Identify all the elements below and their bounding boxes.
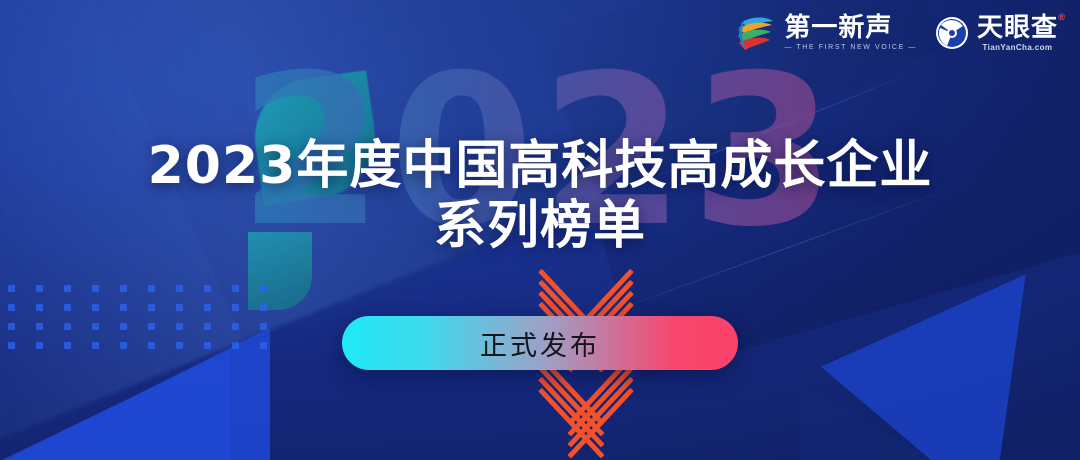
grid-dot [232,285,239,292]
logo-diyixinsheng[interactable]: 第一新声 — THE FIRST NEW VOICE — [736,14,917,52]
grid-dot [120,342,127,349]
grid-dot [232,323,239,330]
page-title: 2023年度中国高科技高成长企业 系列榜单 [0,136,1080,257]
grid-dot [232,304,239,311]
grid-dot [120,285,127,292]
grid-dot [92,342,99,349]
grid-dot [92,304,99,311]
logo-tianyancha[interactable]: ® 天眼查 TianYanCha.com [935,15,1058,52]
grid-dot [260,304,267,311]
bottom-right-triangle [804,248,1026,460]
grid-dot [92,323,99,330]
release-badge[interactable]: 正式发布 [342,316,738,370]
tianyancha-domain: TianYanCha.com [977,44,1058,52]
grid-dot [204,323,211,330]
grid-dot [148,304,155,311]
grid-dot [260,285,267,292]
grid-dot [36,323,43,330]
promo-banner: 2023 2023年度中国高科技高成长企业 系列榜单 正式发布 第 [0,0,1080,460]
logo-group: 第一新声 — THE FIRST NEW VOICE — ® 天眼查 TianY… [736,14,1058,52]
tianyancha-wordmark: ® 天眼查 TianYanCha.com [977,15,1058,52]
diyixinsheng-wordmark: 第一新声 — THE FIRST NEW VOICE — [784,15,917,51]
grid-dot [204,285,211,292]
grid-dot [36,285,43,292]
grid-dot [148,323,155,330]
diyixinsheng-tagline: — THE FIRST NEW VOICE — [784,44,917,51]
grid-dot [8,285,15,292]
grid-dot [92,285,99,292]
grid-dot [260,342,267,349]
grid-dot [64,342,71,349]
grid-dot [64,304,71,311]
tianyancha-mark-icon [935,16,969,50]
grid-dot [148,342,155,349]
grid-dot [232,342,239,349]
grid-dot [204,342,211,349]
grid-dot [64,323,71,330]
grid-dot [120,304,127,311]
headline-line-2: 系列榜单 [0,196,1080,256]
dot-grid-pattern [8,285,288,361]
grid-dot [176,304,183,311]
trademark-symbol: ® [1058,13,1065,22]
grid-dot [176,285,183,292]
grid-dot [8,323,15,330]
headline-line-1: 2023年度中国高科技高成长企业 [0,136,1080,196]
grid-dot [36,304,43,311]
grid-dot [120,323,127,330]
grid-dot [260,323,267,330]
grid-dot [204,304,211,311]
grid-dot [8,304,15,311]
release-badge-label: 正式发布 [480,324,600,363]
grid-dot [148,285,155,292]
grid-dot [8,342,15,349]
grid-dot [64,285,71,292]
grid-dot [176,323,183,330]
tianyancha-name-cn: 天眼查 [977,15,1058,41]
diyixinsheng-name-cn: 第一新声 [784,15,917,41]
grid-dot [36,342,43,349]
diyixinsheng-mark-icon [736,14,776,52]
grid-dot [176,342,183,349]
